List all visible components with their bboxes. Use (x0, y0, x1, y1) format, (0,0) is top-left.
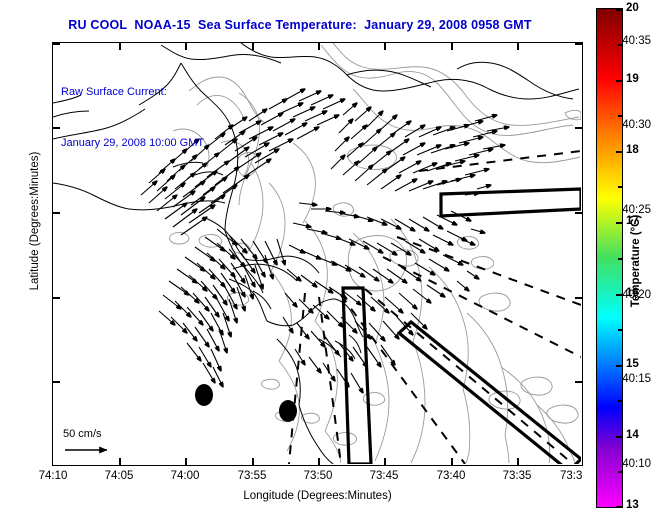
ytick-mark (53, 43, 60, 45)
traffic-separation-lines (289, 151, 581, 464)
ytick-mark (53, 127, 60, 129)
colorbar-tick (616, 365, 622, 367)
xtick-label: 73:3 (560, 470, 594, 482)
colorbar-label: 13 (626, 499, 639, 511)
surface-current-vectors (141, 89, 509, 393)
xtick-mark (451, 43, 453, 50)
colorbar-label: 18 (626, 144, 639, 156)
x-axis-label: Longitude (Degrees:Minutes) (52, 490, 583, 502)
xtick-mark (119, 458, 121, 465)
xtick-mark (252, 43, 254, 50)
colorbar: 20 19 18 17 16 15 14 13 (596, 8, 623, 508)
ytick-mark (53, 381, 60, 383)
xtick-label: 73:40 (424, 470, 478, 482)
map-plot-area: Raw Surface Current: January 29, 2008 10… (52, 42, 583, 466)
xtick-mark (451, 458, 453, 465)
xtick-mark (119, 43, 121, 50)
colorbar-label: 19 (626, 73, 639, 85)
ytick-mark (575, 212, 582, 214)
ytick-mark (53, 297, 60, 299)
xtick-label: 73:50 (291, 470, 345, 482)
y-axis-label: Latitude (Degrees:Minutes) (29, 91, 41, 351)
xtick-mark (318, 458, 320, 465)
colorbar-minor-tick (618, 186, 622, 188)
chart-title: RU COOL NOAA-15 Sea Surface Temperature:… (0, 18, 600, 32)
colorbar-title: Temperature (°C) (630, 181, 642, 341)
colorbar-label: 14 (626, 429, 639, 441)
ytick-mark (575, 381, 582, 383)
colorbar-label: 15 (626, 358, 639, 370)
ytick-mark (53, 212, 60, 214)
colorbar-tick (616, 222, 622, 224)
coastline (53, 43, 579, 464)
colorbar-minor-tick (618, 329, 622, 331)
station-markers (195, 384, 297, 422)
sst-map-figure: RU COOL NOAA-15 Sea Surface Temperature:… (0, 0, 651, 518)
xtick-mark (517, 43, 519, 50)
xtick-label: 74:00 (158, 470, 212, 482)
colorbar-minor-tick (618, 115, 622, 117)
ytick-mark (575, 297, 582, 299)
xtick-label: 73:35 (490, 470, 544, 482)
colorbar-minor-tick (618, 44, 622, 46)
colorbar-tick (616, 294, 622, 296)
xtick-mark (384, 43, 386, 50)
colorbar-minor-tick (618, 258, 622, 260)
xtick-label: 73:55 (225, 470, 279, 482)
colorbar-tick (616, 9, 622, 11)
ytick-mark (575, 127, 582, 129)
colorbar-tick (616, 151, 622, 153)
ytick-mark (575, 43, 582, 45)
xtick-mark (517, 458, 519, 465)
shipping-lanes (343, 189, 581, 464)
colorbar-minor-tick (618, 400, 622, 402)
xtick-mark (252, 458, 254, 465)
colorbar-tick (616, 80, 622, 82)
colorbar-label: 20 (626, 2, 639, 14)
xtick-mark (318, 43, 320, 50)
sst-contour-lines (170, 43, 581, 463)
xtick-label: 74:10 (26, 470, 80, 482)
xtick-mark (185, 43, 187, 50)
colorbar-tick (616, 506, 622, 508)
xtick-mark (185, 458, 187, 465)
map-canvas (53, 43, 581, 464)
colorbar-minor-tick (618, 471, 622, 473)
xtick-mark (384, 458, 386, 465)
xtick-label: 73:45 (357, 470, 411, 482)
xtick-label: 74:05 (92, 470, 146, 482)
colorbar-tick (616, 436, 622, 438)
